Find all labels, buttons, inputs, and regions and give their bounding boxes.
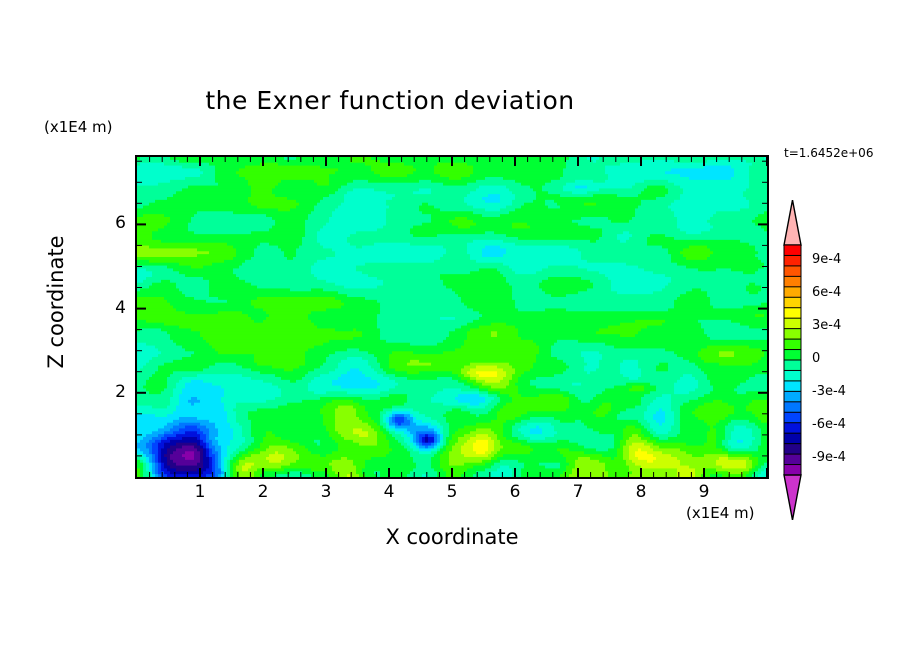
y-axis-unit-label: (x1E4 m) xyxy=(44,118,113,136)
contour-plot-area[interactable] xyxy=(135,155,769,479)
colorbar-tick-label: -9e-4 xyxy=(812,450,846,465)
x-tick-label: 1 xyxy=(185,482,215,502)
contour-field xyxy=(137,157,767,477)
colorbar-tick-label: 3e-4 xyxy=(812,318,841,333)
x-tick-label: 4 xyxy=(374,482,404,502)
time-annotation: t=1.6452e+06 xyxy=(784,146,873,160)
colorbar[interactable]: 9e-46e-43e-40-3e-4-6e-4-9e-4 xyxy=(778,200,898,520)
y-tick-label: 4 xyxy=(100,298,126,318)
colorbar-tick-label: 9e-4 xyxy=(812,252,841,267)
x-tick-label: 5 xyxy=(437,482,467,502)
colorbar-tick-label: -3e-4 xyxy=(812,384,846,399)
y-tick-label: 2 xyxy=(100,382,126,402)
x-tick-label: 7 xyxy=(563,482,593,502)
colorbar-tick-label: -6e-4 xyxy=(812,417,846,432)
y-tick-label: 6 xyxy=(100,213,126,233)
colorbar-tick-label: 0 xyxy=(812,351,820,366)
x-tick-label: 8 xyxy=(626,482,656,502)
x-tick-label: 6 xyxy=(500,482,530,502)
x-axis-title: X coordinate xyxy=(135,525,769,549)
x-tick-label: 9 xyxy=(689,482,719,502)
colorbar-tick-label: 6e-4 xyxy=(812,285,841,300)
x-axis-unit-label: (x1E4 m) xyxy=(686,504,755,522)
page-title: the Exner function deviation xyxy=(0,86,780,115)
colorbar-gradient xyxy=(778,200,808,520)
x-tick-label: 3 xyxy=(311,482,341,502)
x-tick-label: 2 xyxy=(248,482,278,502)
y-axis-title: Z coordinate xyxy=(44,222,68,382)
